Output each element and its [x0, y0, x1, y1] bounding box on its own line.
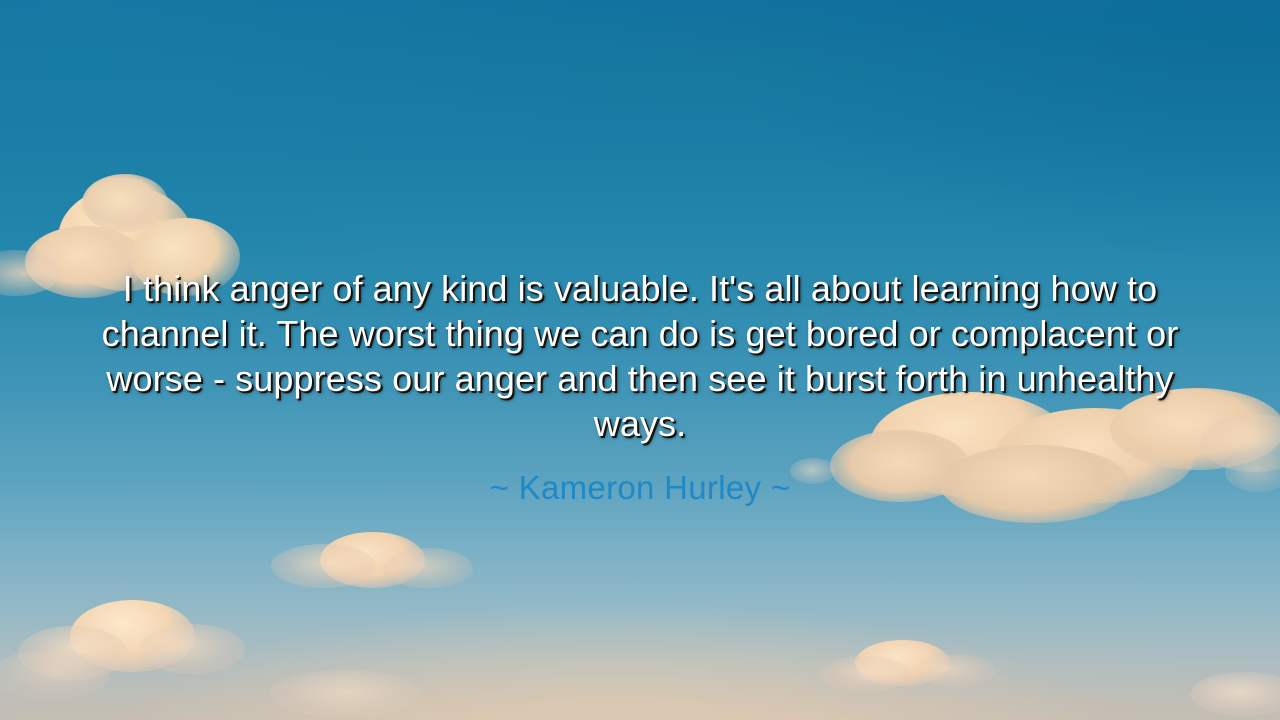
quote-card: I think anger of any kind is valuable. I…: [0, 0, 1280, 720]
text-layer: I think anger of any kind is valuable. I…: [0, 0, 1280, 720]
quote-text: I think anger of any kind is valuable. I…: [90, 266, 1190, 446]
quote-attribution: ~ Kameron Hurley ~: [90, 468, 1190, 508]
